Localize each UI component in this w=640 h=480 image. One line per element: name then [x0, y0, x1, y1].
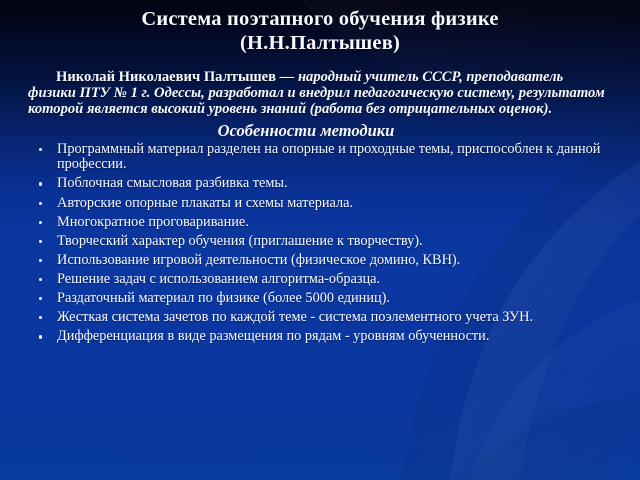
feature-bullet-list: Программный материал разделен на опорные… — [28, 142, 612, 345]
slide-body: Николай Николаевич Палтышев — народный у… — [28, 70, 612, 348]
list-item-text: Программный материал разделен на опорные… — [57, 141, 600, 173]
intro-paragraph: Николай Николаевич Палтышев — народный у… — [28, 70, 612, 118]
list-item-text: Дифференциация в виде размещения по ряда… — [57, 328, 489, 344]
bullet-dot-icon — [39, 148, 42, 151]
bullet-dot-icon — [39, 240, 42, 243]
title-line-1: Система поэтапного обучения физике — [0, 7, 640, 31]
list-item-text: Использование игровой деятельности (физи… — [57, 252, 460, 268]
bullet-dot-icon — [39, 259, 42, 262]
bullet-dot-icon — [39, 182, 42, 185]
slide-canvas: Система поэтапного обучения физике (Н.Н.… — [0, 0, 640, 480]
list-item: Творческий характер обучения (приглашени… — [28, 234, 612, 250]
intro-lead: Николай Николаевич Палтышев — — [56, 69, 298, 85]
list-item-text: Авторские опорные плакаты и схемы матери… — [57, 195, 353, 211]
bullet-dot-icon — [39, 221, 42, 224]
list-item: Раздаточный материал по физике (более 50… — [28, 291, 612, 307]
list-item-text: Решение задач с использованием алгоритма… — [57, 271, 380, 287]
title-line-2: (Н.Н.Палтышев) — [0, 31, 640, 55]
list-item: Поблочная смысловая разбивка темы. — [28, 176, 612, 192]
list-item-text: Раздаточный материал по физике (более 50… — [57, 290, 390, 306]
bullet-dot-icon — [39, 316, 42, 319]
section-heading: Особенности методики — [28, 121, 612, 140]
bullet-dot-icon — [39, 335, 42, 338]
list-item-text: Многократное проговаривание. — [57, 214, 249, 230]
list-item-text: Поблочная смысловая разбивка темы. — [57, 175, 288, 191]
list-item: Использование игровой деятельности (физи… — [28, 253, 612, 269]
list-item: Решение задач с использованием алгоритма… — [28, 272, 612, 288]
slide-title: Система поэтапного обучения физике (Н.Н.… — [0, 7, 640, 55]
list-item: Многократное проговаривание. — [28, 215, 612, 231]
list-item-text: Жесткая система зачетов по каждой теме -… — [57, 309, 533, 325]
list-item: Авторские опорные плакаты и схемы матери… — [28, 196, 612, 212]
bullet-dot-icon — [39, 278, 42, 281]
list-item: Дифференциация в виде размещения по ряда… — [28, 329, 612, 345]
list-item: Программный материал разделен на опорные… — [28, 142, 612, 173]
list-item: Жесткая система зачетов по каждой теме -… — [28, 310, 612, 326]
bullet-dot-icon — [39, 297, 42, 300]
list-item-text: Творческий характер обучения (приглашени… — [57, 233, 423, 249]
bullet-dot-icon — [39, 202, 42, 205]
